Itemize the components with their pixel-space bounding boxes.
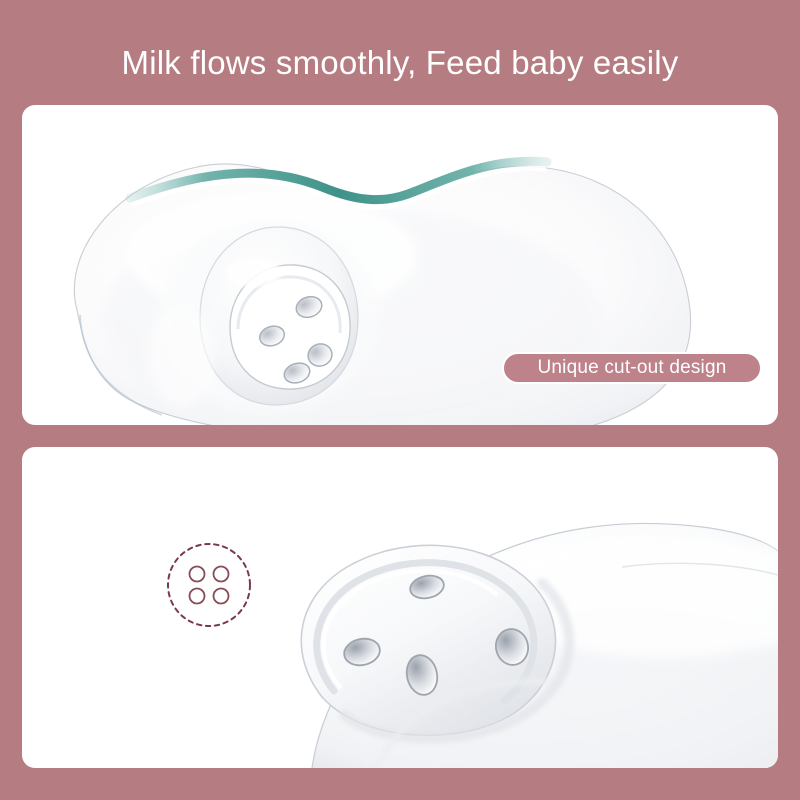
badge-unique-cut-out-design: Unique cut-out design [502,352,762,384]
product-feature-banner: Milk flows smoothly, Feed baby easily [0,0,800,800]
diagram-hole [214,589,229,604]
cut-out-design-card: Unique cut-out design [22,105,778,425]
diagram-hole [214,567,229,582]
hole-diameter-card: Diameter: 2mm [22,447,778,768]
page-title: Milk flows smoothly, Feed baby easily [0,40,800,86]
nipple-shield-closeup-image [22,447,778,768]
badge-label: Unique cut-out design [537,357,726,379]
four-hole-circle-icon [163,539,255,631]
body-glint [148,305,216,405]
nipple-glint [226,259,282,287]
diagram-outer-dashed-circle [168,544,250,626]
diagram-hole [190,589,205,604]
diagram-hole [190,567,205,582]
